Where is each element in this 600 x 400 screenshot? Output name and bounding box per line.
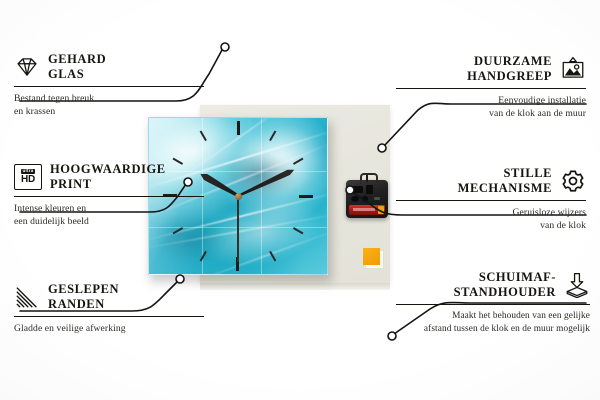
battery-stripe xyxy=(353,208,375,211)
feature-description: Gladde en veilige afwerking xyxy=(14,322,204,335)
feature-rule xyxy=(396,200,586,201)
bevelled-edge-icon xyxy=(14,284,40,310)
foam-spacer xyxy=(363,248,380,265)
feature-description: Bestand tegen breuk en krassen xyxy=(14,92,204,118)
movement-detail xyxy=(362,196,368,202)
feature-description: Geruisloze wijzers van de klok xyxy=(396,206,586,232)
feature-header: SCHUIMAF- STANDHOUDER xyxy=(396,270,590,300)
feature-duurzame-handgreep[interactable]: DUURZAME HANDGREEP Eenvoudige installati… xyxy=(396,54,586,120)
infographic-canvas: GEHARD GLAS Bestand tegen breuk en krass… xyxy=(0,0,600,400)
feature-hoogwaardige-print[interactable]: ultra HD HOOGWAARDIGE PRINT Intense kleu… xyxy=(14,162,204,228)
ultra-hd-badge-main: HD xyxy=(21,175,35,185)
feature-header: DUURZAME HANDGREEP xyxy=(396,54,586,84)
battery-positive-terminal xyxy=(378,206,384,214)
clock-center-cap xyxy=(235,193,242,200)
clock-tick xyxy=(237,117,239,196)
feature-rule xyxy=(396,88,586,89)
feature-geslepen-randen[interactable]: GESLEPEN RANDEN Gladde en veilige afwerk… xyxy=(14,282,204,335)
feature-stille-mechanisme[interactable]: STILLE MECHANISME Geruisloze wijzers van… xyxy=(396,166,586,232)
gear-icon xyxy=(560,168,586,194)
feature-header: STILLE MECHANISME xyxy=(396,166,586,196)
framed-picture-icon xyxy=(560,56,586,82)
feature-gehard-glas[interactable]: GEHARD GLAS Bestand tegen breuk en krass… xyxy=(14,52,204,118)
feature-rule xyxy=(14,196,204,197)
movement-detail xyxy=(351,186,363,193)
movement-detail xyxy=(351,196,359,202)
feature-header: GEHARD GLAS xyxy=(14,52,204,82)
clock-tick xyxy=(238,195,317,197)
connector-dot-standhouder xyxy=(388,332,396,340)
ultra-hd-icon: ultra HD xyxy=(14,164,42,190)
feature-rule xyxy=(14,86,204,87)
feature-title: STILLE MECHANISME xyxy=(458,166,552,196)
connector-dot-glass xyxy=(221,43,229,51)
feature-header: ultra HD HOOGWAARDIGE PRINT xyxy=(14,162,204,192)
clock-movement xyxy=(346,180,388,218)
feature-header: GESLEPEN RANDEN xyxy=(14,282,204,312)
feature-description: Intense kleuren en een duidelijk beeld xyxy=(14,202,204,228)
feature-description: Maakt het behouden van een gelijke afsta… xyxy=(396,310,590,335)
feature-title: GEHARD GLAS xyxy=(48,52,106,82)
aa-battery xyxy=(349,205,385,215)
feature-description: Eenvoudige installatie van de klok aan d… xyxy=(396,94,586,120)
feature-rule xyxy=(14,316,204,317)
feature-title: DUURZAME HANDGREEP xyxy=(467,54,552,84)
movement-detail xyxy=(366,185,373,194)
feature-title: HOOGWAARDIGE PRINT xyxy=(50,162,166,192)
movement-hanger-hook xyxy=(360,173,378,184)
clock-second-hand xyxy=(237,196,239,262)
feature-rule xyxy=(396,304,590,305)
feature-title: SCHUIMAF- STANDHOUDER xyxy=(454,270,556,300)
wall-panel-edge xyxy=(200,283,390,290)
feature-title: GESLEPEN RANDEN xyxy=(48,282,119,312)
movement-detail xyxy=(374,197,380,200)
feature-schuimafstandhouder[interactable]: SCHUIMAF- STANDHOUDER Maakt het behouden… xyxy=(396,270,590,335)
diamond-icon xyxy=(14,54,40,80)
press-down-pad-icon xyxy=(564,272,590,298)
